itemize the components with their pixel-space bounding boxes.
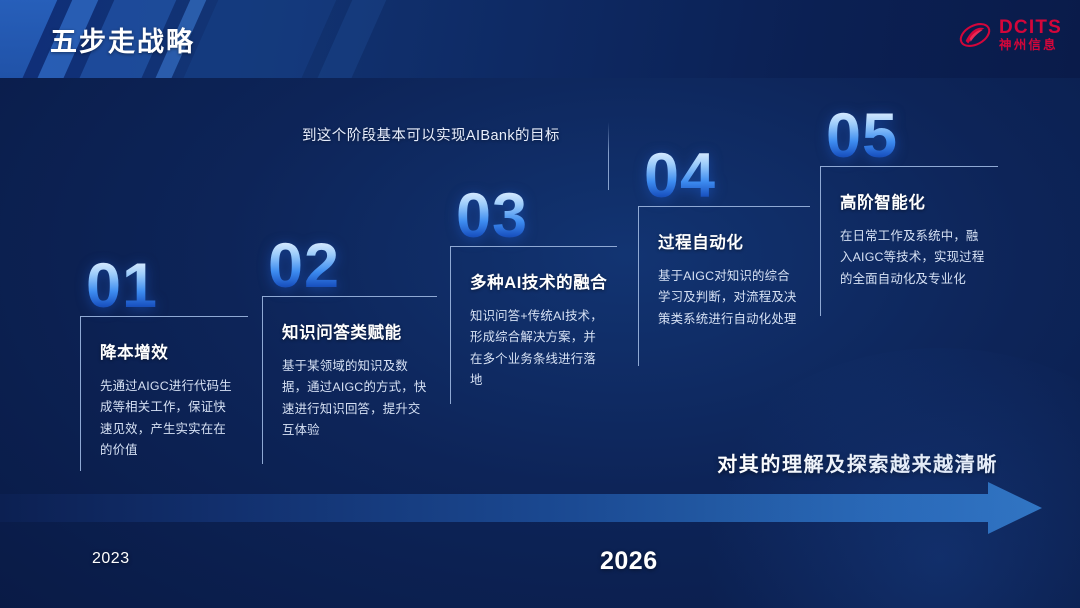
page-title: 五步走战略 bbox=[50, 20, 195, 59]
step-number: 05 bbox=[826, 108, 998, 166]
brand-logo: DCITS 神州信息 bbox=[958, 18, 1062, 52]
step-heading: 降本增效 bbox=[100, 339, 238, 363]
step-heading: 多种AI技术的融合 bbox=[470, 269, 607, 293]
step-03: 03 多种AI技术的融合 知识问答+传统AI技术，形成综合解决方案，并在多个业务… bbox=[450, 188, 617, 404]
step-body: 知识问答+传统AI技术，形成综合解决方案，并在多个业务条线进行落地 bbox=[470, 306, 607, 391]
timeline-arrow: 对其的理解及探索越来越清晰 bbox=[0, 482, 1080, 534]
right-arrow-icon bbox=[0, 482, 1080, 534]
step-heading: 知识问答类赋能 bbox=[282, 319, 427, 343]
logo-chinese: 神州信息 bbox=[999, 39, 1062, 52]
dcits-swirl-icon bbox=[958, 18, 992, 52]
timeline-end-year: 2026 bbox=[600, 547, 658, 576]
step-body: 在日常工作及系统中，融入AIGC等技术，实现过程的全面自动化及专业化 bbox=[840, 226, 988, 290]
step-card: 过程自动化 基于AIGC对知识的综合学习及判断，对流程及决策类系统进行自动化处理 bbox=[638, 206, 810, 366]
slide-root: 五步走战略 DCITS 神州信息 到这个阶段基本可以实现AIBank的目标 01… bbox=[0, 0, 1080, 608]
step-number: 01 bbox=[86, 258, 248, 316]
step-riser-line bbox=[608, 122, 609, 190]
step-number: 04 bbox=[644, 148, 810, 206]
step-card: 降本增效 先通过AIGC进行代码生成等相关工作，保证快速见效，产生实实在在的价值 bbox=[80, 316, 248, 471]
step-heading: 过程自动化 bbox=[658, 229, 800, 253]
step-card: 高阶智能化 在日常工作及系统中，融入AIGC等技术，实现过程的全面自动化及专业化 bbox=[820, 166, 998, 316]
step-04: 04 过程自动化 基于AIGC对知识的综合学习及判断，对流程及决策类系统进行自动… bbox=[638, 148, 810, 366]
step-card: 知识问答类赋能 基于某领域的知识及数据，通过AIGC的方式，快速进行知识回答，提… bbox=[262, 296, 437, 464]
step-body: 先通过AIGC进行代码生成等相关工作，保证快速见效，产生实实在在的价值 bbox=[100, 376, 238, 461]
step-body: 基于AIGC对知识的综合学习及判断，对流程及决策类系统进行自动化处理 bbox=[658, 266, 800, 330]
logo-text: DCITS 神州信息 bbox=[999, 18, 1062, 52]
arrow-caption: 对其的理解及探索越来越清晰 bbox=[717, 448, 998, 477]
header-stripe bbox=[290, 0, 404, 78]
step-01: 01 降本增效 先通过AIGC进行代码生成等相关工作，保证快速见效，产生实实在在… bbox=[80, 258, 248, 471]
banner-note: 到这个阶段基本可以实现AIBank的目标 bbox=[302, 124, 560, 145]
step-02: 02 知识问答类赋能 基于某领域的知识及数据，通过AIGC的方式，快速进行知识回… bbox=[262, 238, 437, 464]
step-heading: 高阶智能化 bbox=[840, 189, 988, 213]
corner-glow bbox=[680, 348, 1080, 608]
step-body: 基于某领域的知识及数据，通过AIGC的方式，快速进行知识回答，提升交互体验 bbox=[282, 356, 427, 441]
step-number: 03 bbox=[456, 188, 617, 246]
step-number: 02 bbox=[268, 238, 437, 296]
timeline-start-year: 2023 bbox=[92, 550, 130, 568]
step-card: 多种AI技术的融合 知识问答+传统AI技术，形成综合解决方案，并在多个业务条线进… bbox=[450, 246, 617, 404]
step-05: 05 高阶智能化 在日常工作及系统中，融入AIGC等技术，实现过程的全面自动化及… bbox=[820, 108, 998, 316]
logo-english: DCITS bbox=[999, 18, 1062, 37]
